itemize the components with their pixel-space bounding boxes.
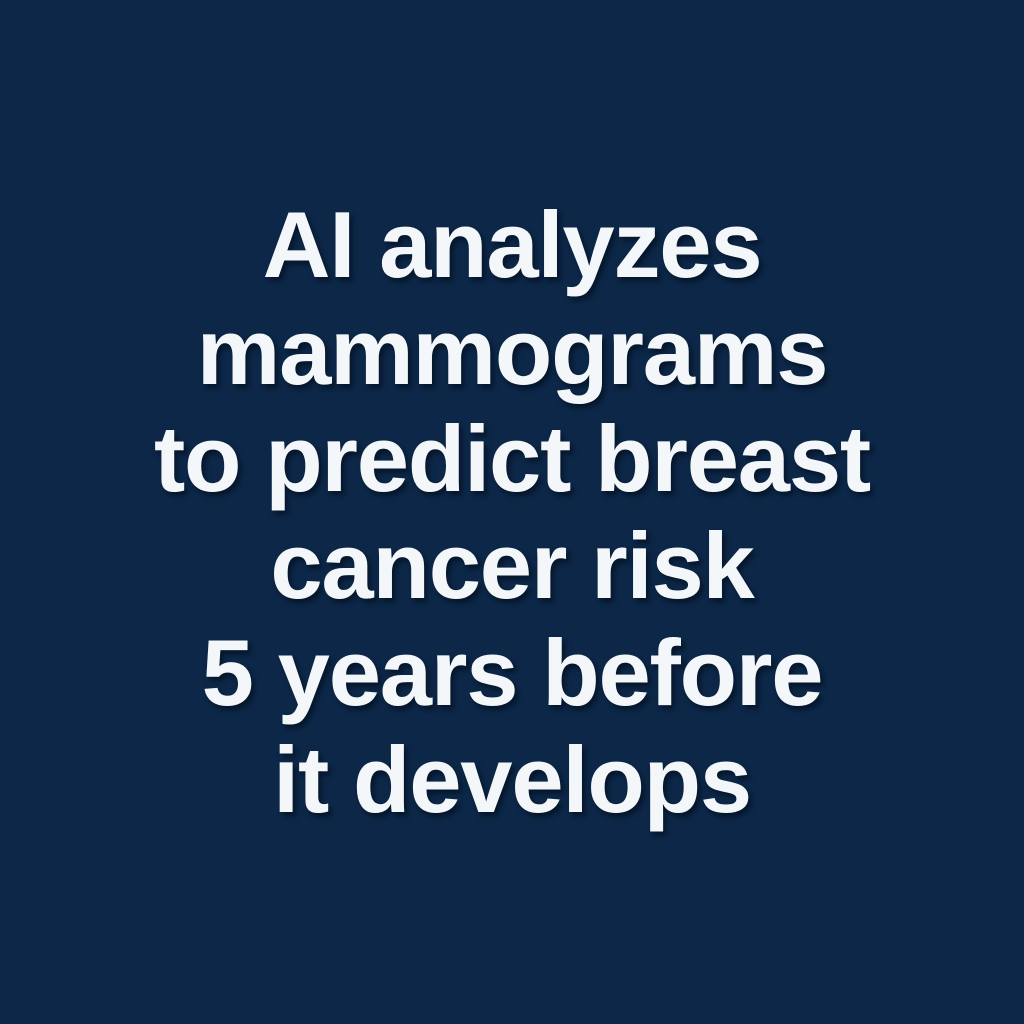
headline-line-6: it develops [40, 726, 984, 833]
headline-line-2: mammograms [40, 298, 984, 405]
headline-text-block: AI analyzes mammograms to predict breast… [0, 191, 1024, 833]
headline-line-5: 5 years before [40, 619, 984, 726]
text-card: AI analyzes mammograms to predict breast… [0, 0, 1024, 1024]
headline-line-4: cancer risk [40, 512, 984, 619]
headline-line-3: to predict breast [40, 405, 984, 512]
headline-line-1: AI analyzes [40, 191, 984, 298]
